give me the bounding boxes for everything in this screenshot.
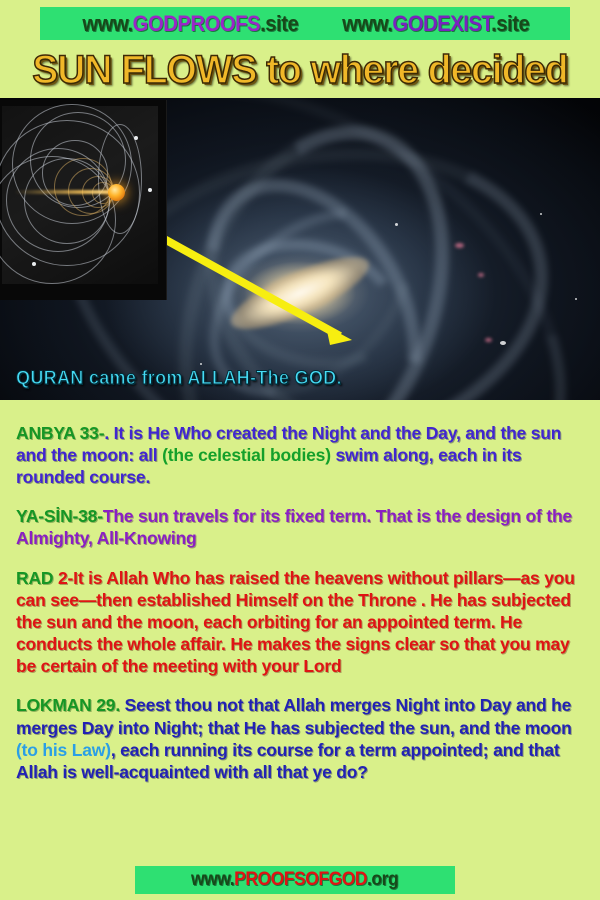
star-dot xyxy=(540,213,542,215)
sun-icon xyxy=(108,184,125,201)
verse-ref: RAD xyxy=(16,568,53,588)
link-godproofs[interactable]: www.GODPROOFS.site xyxy=(82,11,298,37)
link-proofsofgod-suffix: .org xyxy=(367,869,398,890)
verse-highlight: (the celestial bodies) xyxy=(162,445,331,465)
verses-list: ANBYA 33-. It is He Who created the Nigh… xyxy=(16,404,588,797)
planet-dot xyxy=(32,262,36,266)
link-godexist[interactable]: www.GODEXIST.site xyxy=(342,11,529,37)
bottom-url-banner: www.PROOFSOFGOD.org xyxy=(135,866,455,894)
top-url-banner: www.GODPROOFS.site www.GODEXIST.site xyxy=(40,7,570,40)
nebula-dot xyxy=(455,243,464,248)
star-dot xyxy=(200,363,202,365)
verse-yasin-38: YA-SİN-38-The sun travels for its fixed … xyxy=(16,505,588,549)
nebula-dot xyxy=(478,273,484,277)
verse-ref: LOKMAN 29. xyxy=(16,695,120,715)
link-proofsofgod[interactable]: www.PROOFSOFGOD.org xyxy=(191,869,398,891)
solar-system-inset xyxy=(0,100,167,300)
star-dot xyxy=(500,341,506,345)
link-proofsofgod-name: PROOFSOFGOD xyxy=(235,869,368,890)
link-godproofs-name: GODPROOFS xyxy=(133,11,260,36)
star-dot xyxy=(575,298,577,300)
sun-ray xyxy=(14,190,112,194)
link-godexist-suffix: .site xyxy=(491,11,529,36)
verse-highlight: (to his Law) xyxy=(16,740,111,760)
planet-dot xyxy=(148,188,152,192)
verse-rad-2: RAD 2-It is Allah Who has raised the hea… xyxy=(16,567,588,677)
verse-ref: YA-SİN-38- xyxy=(16,506,103,526)
space-photo: Sun xyxy=(0,98,600,400)
nebula-dot xyxy=(485,338,492,342)
verse-ref: ANBYA 33- xyxy=(16,423,104,443)
quran-caption: QURAN came from ALLAH-The GOD. xyxy=(16,368,342,390)
orbit-ring xyxy=(98,124,142,234)
star-dot xyxy=(395,223,398,226)
verse-text-part1: 2-It is Allah Who has raised the heavens… xyxy=(16,568,575,676)
link-godproofs-suffix: .site xyxy=(260,11,298,36)
page-title: SUN FLOWS to where decided xyxy=(9,44,591,96)
link-godexist-name: GODEXIST xyxy=(392,11,491,36)
verse-anbya-33: ANBYA 33-. It is He Who created the Nigh… xyxy=(16,422,588,488)
planet-dot xyxy=(134,136,138,140)
link-proofsofgod-prefix: www. xyxy=(191,869,234,890)
link-godexist-prefix: www. xyxy=(342,11,392,36)
inset-panel xyxy=(2,106,158,284)
verse-lokman-29: LOKMAN 29. Seest thou not that Allah mer… xyxy=(16,694,588,782)
link-godproofs-prefix: www. xyxy=(82,11,132,36)
